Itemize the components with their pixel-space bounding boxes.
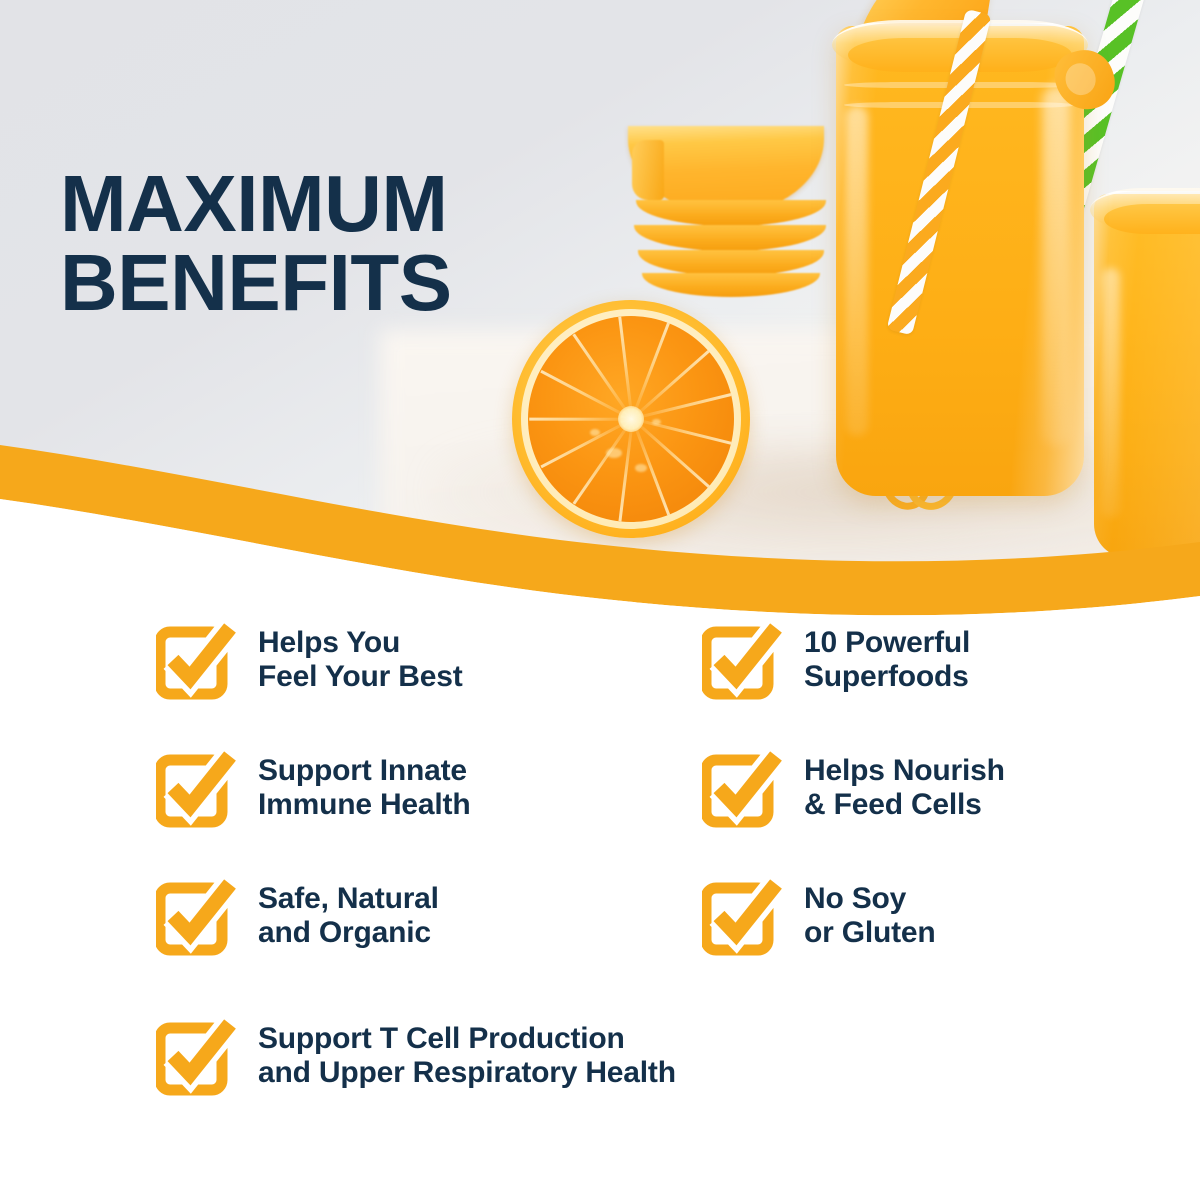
benefit-item-support-innate-immune-health[interactable]: Support Innate Immune Health — [156, 748, 470, 828]
benefit-label: 10 Powerful Superfoods — [804, 626, 970, 694]
benefit-label: Helps Nourish & Feed Cells — [804, 754, 1005, 822]
checkbox-checked-icon — [156, 876, 236, 956]
benefit-label: Support T Cell Production and Upper Resp… — [258, 1022, 676, 1090]
benefit-item-support-t-cell-production[interactable]: Support T Cell Production and Upper Resp… — [156, 1016, 676, 1096]
benefit-label: No Soy or Gluten — [804, 882, 936, 950]
benefit-item-helps-you-feel-your-best[interactable]: Helps You Feel Your Best — [156, 620, 463, 700]
benefit-item-helps-nourish-feed-cells[interactable]: Helps Nourish & Feed Cells — [702, 748, 1005, 828]
benefit-label: Support Innate Immune Health — [258, 754, 470, 822]
checkbox-checked-icon — [156, 620, 236, 700]
orange-slice-stack-icon — [628, 126, 838, 301]
page-title: MAXIMUM BENEFITS — [60, 164, 620, 322]
checkbox-checked-icon — [156, 1016, 236, 1096]
checkbox-checked-icon — [702, 620, 782, 700]
checkbox-checked-icon — [702, 876, 782, 956]
benefit-item-no-soy-or-gluten[interactable]: No Soy or Gluten — [702, 876, 936, 956]
benefit-item-safe-natural-and-organic[interactable]: Safe, Natural and Organic — [156, 876, 439, 956]
benefit-label: Safe, Natural and Organic — [258, 882, 439, 950]
checkbox-checked-icon — [156, 748, 236, 828]
promo-page: MAXIMUM BENEFITS Helps You Feel Your Bes… — [0, 0, 1200, 1200]
benefit-label: Helps You Feel Your Best — [258, 626, 463, 694]
benefits-list: Helps You Feel Your Best 10 Powerful Sup… — [0, 620, 1200, 1200]
benefit-item-10-powerful-superfoods[interactable]: 10 Powerful Superfoods — [702, 620, 970, 700]
checkbox-checked-icon — [702, 748, 782, 828]
